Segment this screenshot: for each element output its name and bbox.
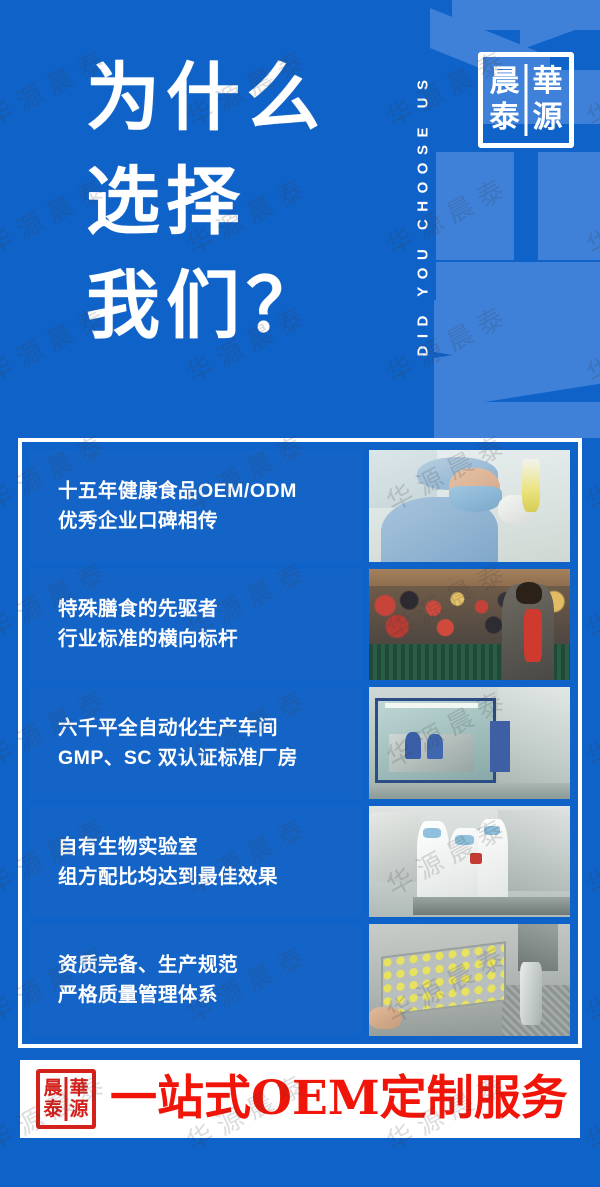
watermark-text: 华源晨泰 bbox=[579, 934, 600, 1031]
feature-card-3: 六千平全自动化生产车间 GMP、SC 双认证标准厂房 bbox=[30, 687, 570, 799]
seal-white-left-column: 晨 泰 bbox=[483, 57, 526, 143]
footer-slogan-text: 一站式OEM定制服务 bbox=[110, 1071, 568, 1127]
title-line-3: 我们？ bbox=[86, 254, 386, 358]
poster-root: 为什么 选择 我们？ DID YOU CHOOSE US 晨 泰 華 源 十五年… bbox=[0, 0, 600, 1187]
feature-card-3-line-2: GMP、SC 双认证标准厂房 bbox=[58, 743, 362, 773]
watermark-text: 华源晨泰 bbox=[579, 550, 600, 647]
seal-white-char-3: 華 bbox=[533, 65, 563, 99]
feature-card-4-line-2: 组方配比均达到最佳效果 bbox=[58, 862, 362, 892]
watermark-text: 华源晨泰 bbox=[579, 1062, 600, 1159]
seal-white-char-4: 源 bbox=[533, 101, 563, 135]
seal-red-char-3: 華 bbox=[69, 1078, 88, 1099]
feature-card-5-text: 资质完备、生产规范 严格质量管理体系 bbox=[30, 924, 362, 1036]
feature-card-2-text: 特殊膳食的先驱者 行业标准的横向标杆 bbox=[30, 569, 362, 681]
seal-red-char-2: 泰 bbox=[43, 1099, 62, 1120]
company-seal-white-icon: 晨 泰 華 源 bbox=[478, 52, 574, 148]
seal-red-right-column: 華 源 bbox=[66, 1073, 92, 1125]
feature-cards-frame: 十五年健康食品OEM/ODM 优秀企业口碑相传 特殊膳食的先驱者 行业标准的横向… bbox=[18, 438, 582, 1048]
feature-cards-list: 十五年健康食品OEM/ODM 优秀企业口碑相传 特殊膳食的先驱者 行业标准的横向… bbox=[30, 450, 570, 1036]
feature-card-5: 资质完备、生产规范 严格质量管理体系 bbox=[30, 924, 570, 1036]
seal-red-char-1: 晨 bbox=[43, 1078, 62, 1099]
title-line-1: 为什么 bbox=[86, 46, 386, 150]
feature-card-1: 十五年健康食品OEM/ODM 优秀企业口碑相传 bbox=[30, 450, 570, 562]
seal-white-char-1: 晨 bbox=[490, 65, 520, 99]
seal-white-right-column: 華 源 bbox=[526, 57, 569, 143]
feature-card-5-line-1: 资质完备、生产规范 bbox=[58, 950, 362, 980]
feature-card-4: 自有生物实验室 组方配比均达到最佳效果 bbox=[30, 806, 570, 918]
tablet-blister-machine-photo bbox=[369, 924, 570, 1036]
feature-card-1-line-2: 优秀企业口碑相传 bbox=[58, 506, 362, 536]
seal-red-char-4: 源 bbox=[69, 1099, 88, 1120]
feature-card-2-line-1: 特殊膳食的先驱者 bbox=[58, 594, 362, 624]
production-line-workers-photo bbox=[369, 806, 570, 918]
feature-card-4-text: 自有生物实验室 组方配比均达到最佳效果 bbox=[30, 806, 362, 918]
watermark-text: 华源晨泰 bbox=[579, 678, 600, 775]
vertical-english-tagline: DID YOU CHOOSE US bbox=[406, 18, 440, 410]
company-seal-red-icon: 晨 泰 華 源 bbox=[36, 1069, 96, 1129]
feature-card-2: 特殊膳食的先驱者 行业标准的横向标杆 bbox=[30, 569, 570, 681]
cleanroom-corridor-photo bbox=[369, 687, 570, 799]
feature-card-3-text: 六千平全自动化生产车间 GMP、SC 双认证标准厂房 bbox=[30, 687, 362, 799]
footer-slogan-band: 晨 泰 華 源 一站式OEM定制服务 bbox=[20, 1060, 580, 1138]
feature-card-1-line-1: 十五年健康食品OEM/ODM bbox=[58, 476, 362, 506]
page-title: 为什么 选择 我们？ bbox=[86, 46, 386, 358]
title-line-2: 选择 bbox=[86, 150, 386, 254]
vertical-english-text: DID YOU CHOOSE US bbox=[415, 72, 432, 356]
seal-white-char-2: 泰 bbox=[490, 101, 520, 135]
poster-header: 为什么 选择 我们？ DID YOU CHOOSE US 晨 泰 華 源 bbox=[0, 0, 600, 440]
seal-red-left-column: 晨 泰 bbox=[40, 1073, 66, 1125]
feature-card-2-line-2: 行业标准的横向标杆 bbox=[58, 624, 362, 654]
lab-technician-photo bbox=[369, 450, 570, 562]
watermark-text: 华源晨泰 bbox=[579, 806, 600, 903]
conference-audience-photo bbox=[369, 569, 570, 681]
feature-card-5-line-2: 严格质量管理体系 bbox=[58, 980, 362, 1010]
feature-card-1-text: 十五年健康食品OEM/ODM 优秀企业口碑相传 bbox=[30, 450, 362, 562]
feature-card-4-line-1: 自有生物实验室 bbox=[58, 832, 362, 862]
feature-card-3-line-1: 六千平全自动化生产车间 bbox=[58, 713, 362, 743]
